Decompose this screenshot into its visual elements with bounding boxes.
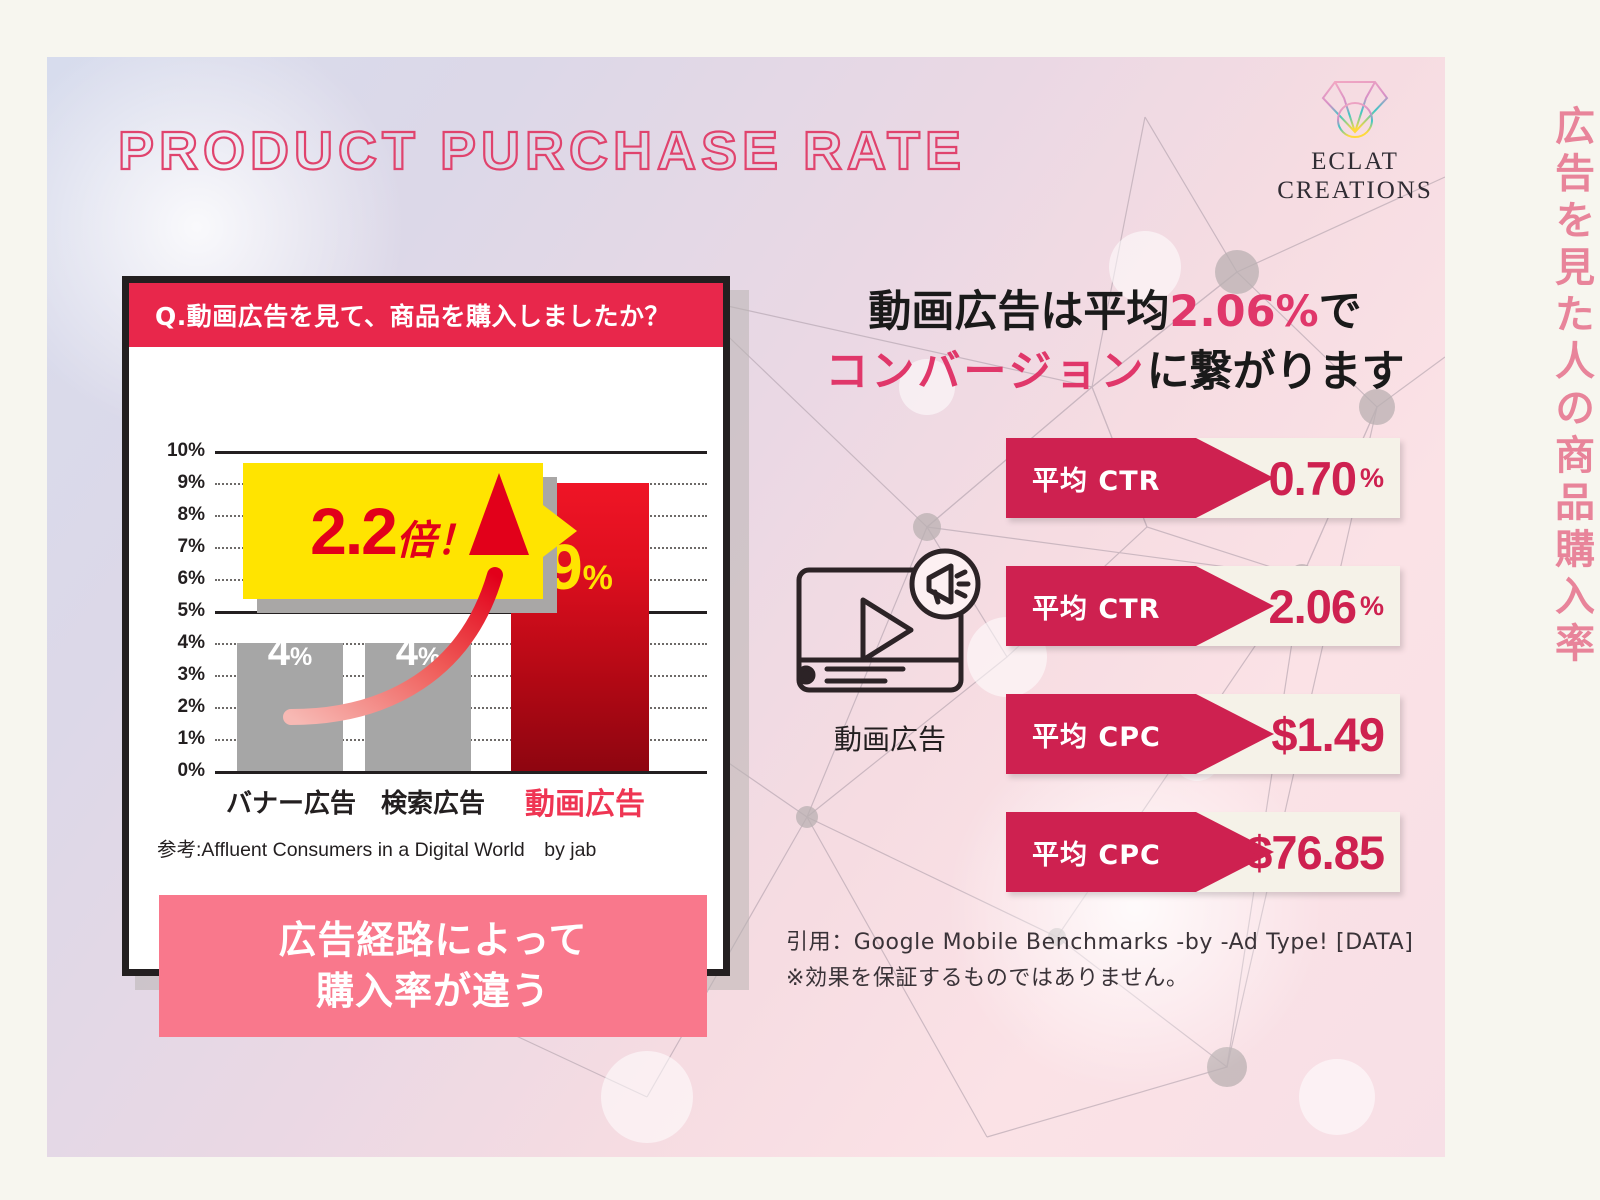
- diamond-gem-icon: [1317, 72, 1393, 142]
- stat-label: 平均 CTR: [1006, 459, 1160, 498]
- stat-label: 平均 CPC: [1006, 715, 1161, 754]
- stat-value: 2.06: [1269, 579, 1356, 634]
- stat-value-group: 2.06%: [1269, 566, 1385, 646]
- stat-value-group: 0.70%: [1269, 438, 1385, 518]
- stat-value-group: $76.85: [1246, 812, 1384, 892]
- vertical-ribbon-title: 広告を見た人の商品購入率: [1445, 105, 1600, 669]
- question-text: Q.動画広告を見て、商品を購入しましたか？: [129, 297, 670, 333]
- conclusion-banner: 広告経路によって 購入率が違う: [159, 895, 707, 1037]
- growth-arrow-icon: [199, 443, 619, 783]
- page-title: PRODUCT PURCHASE RATE: [118, 120, 966, 182]
- footnotes: 引用：Google Mobile Benchmarks -by -Ad Type…: [786, 925, 1426, 996]
- headline-line-2: コンバージョンに繋がります: [795, 342, 1435, 402]
- footnote-disclaimer: ※効果を保証するものではありません。: [786, 961, 1426, 997]
- ytick-2: 2%: [147, 696, 205, 718]
- stat-prefix: $: [1271, 707, 1296, 762]
- stat-label: 平均 CPC: [1006, 833, 1161, 872]
- light-blob: [945, 717, 1325, 1097]
- ytick-10: 10%: [147, 440, 205, 462]
- headline: 動画広告は平均2.06%で コンバージョンに繋がります: [795, 282, 1435, 402]
- brand-logo: ECLAT CREATIONS: [1276, 72, 1434, 205]
- category-label-search: 検索広告: [359, 783, 507, 820]
- footnote-citation: 引用：Google Mobile Benchmarks -by -Ad Type…: [786, 925, 1426, 961]
- headline-l1-a: 動画広告は平均: [868, 287, 1169, 337]
- video-ad-label: 動画広告: [760, 718, 1020, 758]
- ytick-4: 4%: [147, 632, 205, 654]
- ytick-8: 8%: [147, 504, 205, 526]
- ytick-0: 0%: [147, 760, 205, 782]
- bar-chart-plot: 10% 9% 8% 7% 6% 5% 4% 3% 2% 1% 0%: [129, 347, 723, 983]
- headline-l1-highlight: 2.06%: [1169, 287, 1318, 337]
- infographic-root: 広告を見た人の商品購入率 PRODUCT PURCHASE RATE: [0, 0, 1600, 1200]
- stat-label: 平均 CTR: [1006, 587, 1160, 626]
- stat-row-cpc-display: 平均 CPC $1.49: [1006, 694, 1400, 774]
- ytick-6: 6%: [147, 568, 205, 590]
- stat-value: 76.85: [1271, 825, 1384, 880]
- stat-unit: %: [1356, 591, 1384, 622]
- ytick-5: 5%: [147, 600, 205, 622]
- logo-name-line2: CREATIONS: [1276, 176, 1434, 205]
- ytick-9: 9%: [147, 472, 205, 494]
- stat-value: 1.49: [1297, 707, 1384, 762]
- stat-row-ctr-display: 平均 CTR 0.70%: [1006, 438, 1400, 518]
- stat-value: 0.70: [1269, 451, 1356, 506]
- conclusion-line1: 広告経路によって: [279, 915, 588, 966]
- right-ribbon: 広告を見た人の商品購入率: [1445, 57, 1600, 1157]
- stat-value-group: $1.49: [1271, 694, 1384, 774]
- question-band: Q.動画広告を見て、商品を購入しましたか？: [129, 283, 723, 347]
- ytick-7: 7%: [147, 536, 205, 558]
- ytick-1: 1%: [147, 728, 205, 750]
- chart-card: Q.動画広告を見て、商品を購入しましたか？ 10% 9% 8% 7% 6% 5%…: [122, 276, 730, 976]
- headline-l2-highlight: コンバージョン: [825, 347, 1146, 397]
- logo-name-line1: ECLAT: [1276, 147, 1434, 176]
- headline-line-1: 動画広告は平均2.06%で: [795, 282, 1435, 342]
- stat-row-ctr-video: 平均 CTR 2.06%: [1006, 566, 1400, 646]
- stat-row-cpc-video: 平均 CPC $76.85: [1006, 812, 1400, 892]
- category-label-banner: バナー広告: [217, 783, 365, 820]
- chart-source-text: 参考:Affluent Consumers in a Digital World…: [157, 833, 717, 862]
- ytick-3: 3%: [147, 664, 205, 686]
- headline-l1-c: で: [1319, 287, 1362, 337]
- conclusion-line2: 購入率が違う: [316, 966, 550, 1017]
- stat-prefix: $: [1246, 825, 1271, 880]
- category-label-video: 動画広告: [505, 779, 665, 823]
- video-ad-icon: [793, 548, 989, 698]
- stat-unit: %: [1356, 463, 1384, 494]
- headline-l2-b: に繋がります: [1147, 347, 1405, 397]
